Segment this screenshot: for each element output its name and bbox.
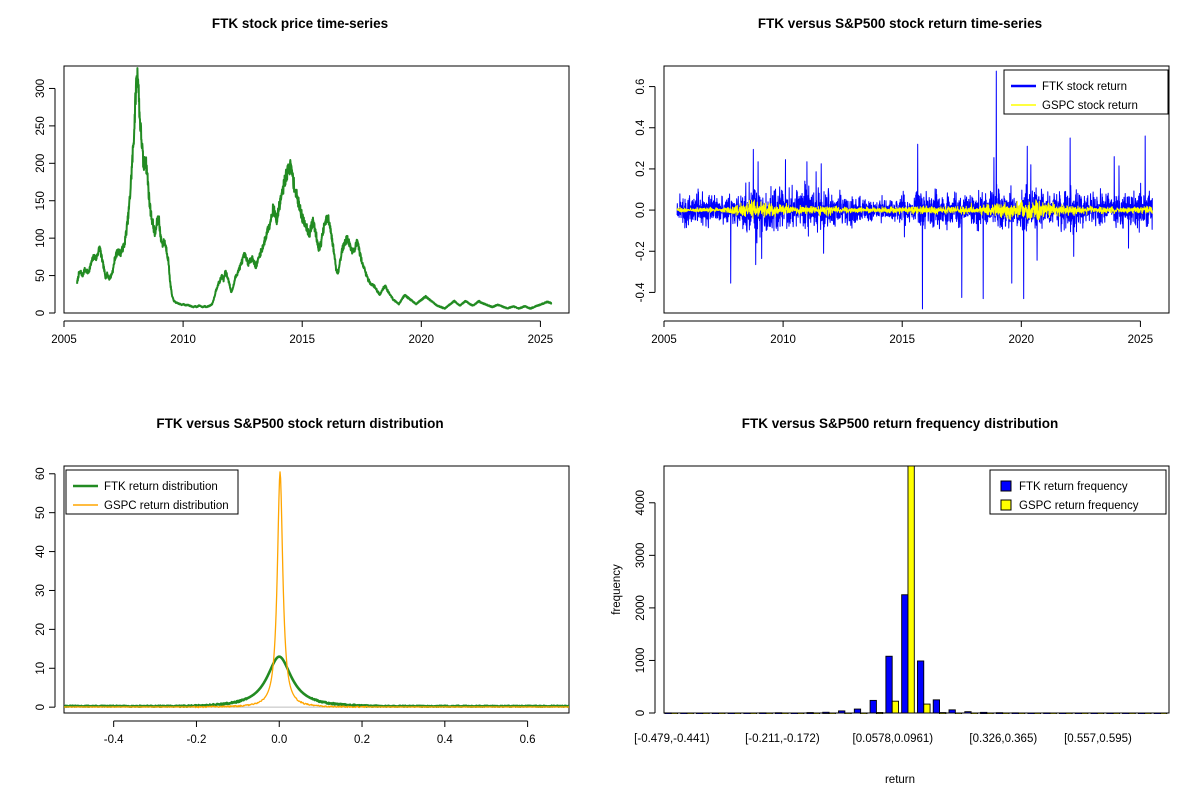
y-tick-label: 150: [35, 191, 47, 210]
ftk-return-x-axis: 20052010201520202025: [651, 321, 1153, 346]
panel-ftk-price-timeseries: FTK stock price time-series2005201020152…: [0, 0, 600, 400]
x-tick-label: -0.2: [187, 734, 207, 746]
bar: [719, 713, 725, 714]
x-tick-label: 2010: [770, 334, 796, 346]
bar: [971, 713, 977, 714]
bar: [845, 713, 851, 714]
legend: FTK return distributionGSPC return distr…: [66, 470, 238, 514]
bar: [1082, 713, 1088, 714]
legend-label: FTK return distribution: [104, 481, 218, 493]
bar: [1097, 713, 1103, 714]
y-tick-label: -0.4: [635, 282, 647, 302]
bar: [728, 713, 734, 714]
bar: [813, 713, 819, 714]
y-tick-label: 0.0: [635, 202, 647, 218]
x-tick-label: 2025: [528, 334, 554, 346]
y-tick-label: 50: [35, 506, 47, 519]
panel-ftk-gspc-return-timeseries: FTK versus S&P500 stock return time-seri…: [600, 0, 1200, 400]
bar: [782, 713, 788, 714]
bar: [917, 661, 923, 713]
bar: [1129, 713, 1135, 714]
freq-x-axis: [-0.479,-0.441)[-0.211,-0.172)[0.0578,0.…: [634, 733, 1132, 745]
dist-y-axis: 0102030405060: [35, 467, 55, 710]
bar: [744, 713, 750, 714]
bar: [829, 713, 835, 714]
y-tick-label: 0: [35, 704, 47, 710]
bar: [876, 712, 882, 713]
x-tick-label: 2015: [889, 334, 915, 346]
bar: [734, 713, 740, 714]
bar: [1113, 713, 1119, 714]
legend: FTK return frequencyGSPC return frequenc…: [990, 470, 1166, 514]
bar: [1107, 713, 1113, 714]
bar: [1044, 713, 1050, 714]
bar: [1123, 713, 1129, 714]
x-tick-label: 2015: [289, 334, 315, 346]
bar: [1145, 713, 1151, 714]
x-tick-label: 2005: [51, 334, 77, 346]
plot-grid: FTK stock price time-series2005201020152…: [0, 0, 1200, 800]
bar: [965, 712, 971, 713]
bar: [870, 700, 876, 713]
bar: [940, 713, 946, 714]
legend-swatch: [1001, 481, 1011, 491]
y-tick-label: 0: [635, 710, 647, 716]
x-tick-label: [0.557,0.595): [1064, 733, 1132, 745]
y-tick-label: 2000: [635, 595, 647, 621]
ftk-price-line: [77, 68, 551, 309]
bar: [955, 713, 961, 714]
ftk-price-chart: FTK stock price time-series2005201020152…: [0, 0, 600, 400]
bar: [1091, 713, 1097, 714]
x-tick-label: [0.0578,0.0961): [853, 733, 934, 745]
bar: [1003, 713, 1009, 714]
bar: [996, 713, 1002, 714]
legend-label: FTK stock return: [1042, 81, 1127, 93]
bar: [908, 466, 914, 713]
bar: [861, 713, 867, 714]
legend-label: GSPC return frequency: [1019, 500, 1139, 512]
y-tick-label: 3000: [635, 543, 647, 569]
x-tick-label: [-0.211,-0.172): [745, 733, 820, 745]
bar: [807, 713, 813, 714]
freq-y-axis: 01000200030004000: [635, 490, 655, 716]
bar: [703, 713, 709, 714]
bar: [1028, 713, 1034, 714]
x-tick-label: 2020: [1009, 334, 1035, 346]
y-tick-label: 30: [35, 584, 47, 597]
legend-label: GSPC return distribution: [104, 500, 229, 512]
bar: [933, 700, 939, 713]
y-tick-label: 20: [35, 623, 47, 636]
ftk-price-x-axis: 20052010201520202025: [51, 321, 553, 346]
panel-ftk-gspc-return-distribution: FTK versus S&P500 stock return distribut…: [0, 400, 600, 800]
bar: [1154, 713, 1160, 714]
bar: [798, 713, 804, 714]
legend: FTK stock returnGSPC stock return: [1004, 70, 1168, 114]
bar: [1075, 713, 1081, 714]
ftk-return-y-axis: -0.4-0.20.00.20.40.6: [635, 79, 655, 303]
bar: [775, 713, 781, 714]
legend-label: FTK return frequency: [1019, 481, 1128, 493]
x-tick-label: 2020: [409, 334, 435, 346]
x-tick-label: 2005: [651, 334, 677, 346]
bar: [766, 713, 772, 714]
bar: [949, 710, 955, 713]
bar: [1059, 713, 1065, 714]
y-tick-label: 10: [35, 662, 47, 675]
y-axis-title: frequency: [611, 564, 623, 615]
y-tick-label: 1000: [635, 648, 647, 674]
bar: [854, 709, 860, 713]
bar: [760, 713, 766, 714]
x-axis-title: return: [885, 774, 915, 786]
panel-title: FTK versus S&P500 stock return time-seri…: [758, 16, 1042, 31]
bar: [681, 713, 687, 714]
x-tick-label: -0.4: [104, 734, 124, 746]
bar: [839, 711, 845, 713]
bar: [1012, 713, 1018, 714]
bar: [671, 713, 677, 714]
bar: [697, 713, 703, 714]
bar: [1066, 713, 1072, 714]
bar: [924, 704, 930, 713]
ftk-gspc-frequency-chart: FTK versus S&P500 return frequency distr…: [600, 400, 1200, 800]
density-line-0: [64, 657, 569, 707]
x-tick-label: 0.0: [271, 734, 287, 746]
y-tick-label: 100: [35, 229, 47, 248]
x-tick-label: [-0.479,-0.441): [634, 733, 710, 745]
legend-swatch: [1001, 500, 1011, 510]
bar: [687, 713, 693, 714]
y-tick-label: 50: [35, 269, 47, 282]
bar: [750, 713, 756, 714]
x-tick-label: 0.2: [354, 734, 370, 746]
ftk-price-y-axis: 050100150200250300: [35, 79, 55, 316]
legend-label: GSPC stock return: [1042, 100, 1138, 112]
bar: [712, 713, 718, 714]
y-tick-label: 4000: [635, 490, 647, 516]
y-tick-label: 0.2: [635, 161, 647, 177]
bar: [981, 712, 987, 713]
y-tick-label: 300: [35, 79, 47, 98]
y-tick-label: 40: [35, 545, 47, 558]
bar: [1034, 713, 1040, 714]
x-tick-label: 0.6: [520, 734, 536, 746]
bar: [823, 712, 829, 713]
bar: [892, 701, 898, 713]
x-tick-label: 2025: [1128, 334, 1154, 346]
bar: [1050, 713, 1056, 714]
dist-x-axis: -0.4-0.20.00.20.40.6: [104, 721, 536, 746]
bar: [1160, 713, 1166, 714]
y-tick-label: 0: [35, 310, 47, 316]
x-tick-label: [0.326,0.365): [969, 733, 1037, 745]
bar: [902, 595, 908, 713]
panel-title: FTK stock price time-series: [212, 16, 388, 31]
y-tick-label: 200: [35, 154, 47, 173]
panel-ftk-gspc-return-frequency: FTK versus S&P500 return frequency distr…: [600, 400, 1200, 800]
y-tick-label: 0.4: [635, 119, 647, 136]
bar: [791, 713, 797, 714]
x-tick-label: 2010: [170, 334, 196, 346]
y-tick-label: 0.6: [635, 79, 647, 95]
bar: [987, 713, 993, 714]
ftk-gspc-return-chart: FTK versus S&P500 stock return time-seri…: [600, 0, 1200, 400]
bar: [1138, 713, 1144, 714]
panel-title: FTK versus S&P500 return frequency distr…: [742, 416, 1059, 431]
y-tick-label: 250: [35, 116, 47, 135]
ftk-gspc-distribution-chart: FTK versus S&P500 stock return distribut…: [0, 400, 600, 800]
y-tick-label: 60: [35, 467, 47, 480]
bar: [665, 713, 671, 714]
bar: [886, 656, 892, 713]
panel-title: FTK versus S&P500 stock return distribut…: [156, 416, 443, 431]
y-tick-label: -0.2: [635, 241, 647, 261]
x-tick-label: 0.4: [437, 734, 454, 746]
bar: [1018, 713, 1024, 714]
